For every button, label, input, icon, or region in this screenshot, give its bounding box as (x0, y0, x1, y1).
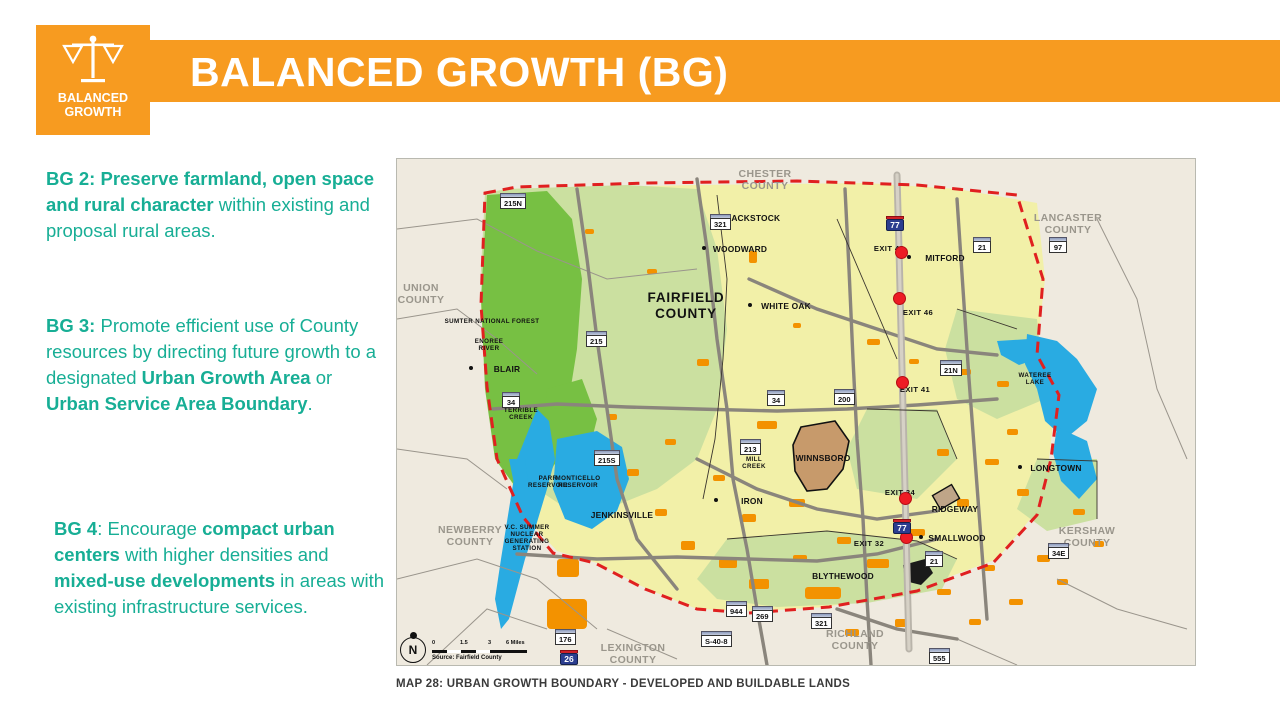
shield-number: 77 (893, 522, 911, 534)
map-label-feature-5: V.C. SUMMER NUCLEAR GENERATING STATION (499, 524, 555, 552)
map-route-shield-26: 26 (560, 650, 578, 665)
shield-number: 215S (594, 454, 620, 466)
shield-number: 34 (767, 394, 785, 406)
body-text: : Encourage (97, 518, 202, 539)
map-exit-marker-1 (893, 292, 906, 305)
map-exit-marker-3 (899, 492, 912, 505)
logo-label: BALANCED GROWTH (58, 91, 128, 119)
shield-number: 200 (834, 393, 855, 405)
map-caption: MAP 28: URBAN GROWTH BOUNDARY - DEVELOPE… (396, 678, 850, 690)
map-route-shield-34: 34 (502, 392, 520, 408)
map-label-place-9: RIDGEWAY (917, 503, 993, 515)
emphasis-text: Urban Growth Area (142, 367, 311, 388)
map-route-shield-77: 77 (886, 216, 904, 231)
map-label-place-3: WHITE OAK (748, 300, 824, 312)
map-route-shield-215N: 215N (500, 193, 526, 209)
shield-number: 321 (811, 617, 832, 629)
map-label-place-6: LONGTOWN (1018, 462, 1094, 474)
shield-number: 34 (502, 396, 520, 408)
shield-number: 215 (586, 335, 607, 347)
balanced-growth-logo-badge: BALANCED GROWTH (36, 25, 150, 135)
scale-tick-1: 1.5 (460, 640, 468, 646)
shield-number: S-40-8 (701, 635, 732, 647)
map-route-shield-215: 215 (586, 331, 607, 347)
map-route-shield-34: 34 (767, 390, 785, 406)
map-route-shield-321: 321 (710, 214, 731, 230)
map-label-feature-0: SUMTER NATIONAL FOREST (442, 318, 542, 325)
shield-number: 21N (940, 364, 962, 376)
map-route-shield-S-40-8: S-40-8 (701, 631, 732, 647)
page-title: BALANCED GROWTH (BG) (190, 48, 1090, 96)
body-text: with higher densities and (120, 544, 329, 565)
map-label-neighbor-county-6: LEXINGTON COUNTY (590, 642, 676, 666)
scale-tick-3: 6 Miles (506, 640, 525, 646)
map-label-place-4: BLAIR (469, 363, 545, 375)
map-place-dot-10 (919, 535, 923, 539)
map-label-feature-6: MILL CREEK (726, 456, 782, 470)
scale-bar: 0 1.5 3 6 Miles (432, 640, 527, 653)
body-text: or (311, 367, 333, 388)
map-route-shield-213: 213 (740, 439, 761, 455)
map-label-place-1: WOODWARD (702, 243, 778, 255)
emphasis-text: mixed-use developments (54, 570, 275, 591)
map-label-place-5: WINNSBORO (785, 452, 861, 464)
bg2-paragraph: BG 2: Preserve farmland, open space and … (46, 166, 386, 244)
shield-number: 97 (1049, 241, 1067, 253)
map-label-neighbor-county-2: UNION COUNTY (378, 282, 464, 306)
map-label-neighbor-county-1: LANCASTER COUNTY (1025, 212, 1111, 236)
map-route-shield-269: 269 (752, 606, 773, 622)
emphasis-text: BG 3: (46, 315, 95, 336)
shield-number: 213 (740, 443, 761, 455)
map-exit-marker-2 (896, 376, 909, 389)
shield-number: 269 (752, 610, 773, 622)
map-place-dot-1 (702, 246, 706, 250)
map-label-place-7: IRON (714, 495, 790, 507)
map-exit-marker-0 (895, 246, 908, 259)
map-route-shield-97: 97 (1049, 237, 1067, 253)
map-route-shield-321: 321 (811, 613, 832, 629)
map-place-dot-6 (1018, 465, 1022, 469)
shield-number: 26 (560, 653, 578, 665)
map-route-shield-215S: 215S (594, 450, 620, 466)
map-label-place-8: JENKINSVILLE (584, 509, 660, 521)
map-place-dot-4 (469, 366, 473, 370)
bg3-paragraph: BG 3: Promote efficient use of County re… (46, 313, 386, 417)
map-place-dot-2 (907, 255, 911, 259)
emphasis-text: BG 4 (54, 518, 97, 539)
shield-number: 944 (726, 605, 747, 617)
shield-number: 176 (555, 633, 576, 645)
map-label-place-2: MITFORD (907, 252, 983, 264)
shield-number: 215N (500, 197, 526, 209)
map-label-feature-4: MONTICELLO RESERVOIR (550, 475, 606, 489)
map-source-note: Source: Fairfield County (432, 655, 502, 661)
map-place-dot-3 (748, 303, 752, 307)
scale-bar-graphic (432, 650, 527, 653)
map-label-place-10: SMALLWOOD (919, 532, 995, 544)
body-text: . (308, 393, 313, 414)
scale-ticks: 0 1.5 3 6 Miles (432, 640, 527, 649)
shield-number: 34E (1048, 547, 1069, 559)
scale-tick-0: 0 (432, 640, 435, 646)
map-label-feature-7: WATEREE LAKE (1007, 372, 1063, 386)
shield-number: 21 (973, 241, 991, 253)
map-label-neighbor-county-5: RICHLAND COUNTY (812, 628, 898, 652)
map-route-shield-34E: 34E (1048, 543, 1069, 559)
shield-number: 77 (886, 219, 904, 231)
map-route-shield-21: 21 (973, 237, 991, 253)
map-route-shield-944: 944 (726, 601, 747, 617)
map-label-neighbor-county-0: CHESTER COUNTY (722, 168, 808, 192)
map-label-exit-1: EXIT 46 (896, 307, 940, 319)
map-label-feature-2: TERRIBLE CREEK (493, 407, 549, 421)
map-route-shield-176: 176 (555, 629, 576, 645)
map-route-shield-77: 77 (893, 519, 911, 534)
emphasis-text: Urban Service Area Boundary (46, 393, 308, 414)
map-route-shield-555: 555 (929, 648, 950, 664)
shield-number: 21 (925, 555, 943, 567)
map-route-shield-21N: 21N (940, 360, 962, 376)
bg4-paragraph: BG 4: Encourage compact urban centers wi… (54, 516, 390, 620)
map-place-dot-7 (714, 498, 718, 502)
map-label-fairfield-county: FAIRFIELD COUNTY (631, 290, 741, 322)
shield-number: 555 (929, 652, 950, 664)
map-label-feature-1: ENOREE RIVER (461, 338, 517, 352)
scale-tick-2: 3 (488, 640, 491, 646)
shield-number: 321 (710, 218, 731, 230)
scales-icon (62, 33, 124, 89)
map-label-exit-4: EXIT 32 (847, 538, 891, 550)
map-route-shield-21: 21 (925, 551, 943, 567)
map-label-place-11: BLYTHEWOOD (805, 570, 881, 582)
map-route-shield-200: 200 (834, 389, 855, 405)
north-arrow: N (400, 637, 426, 663)
